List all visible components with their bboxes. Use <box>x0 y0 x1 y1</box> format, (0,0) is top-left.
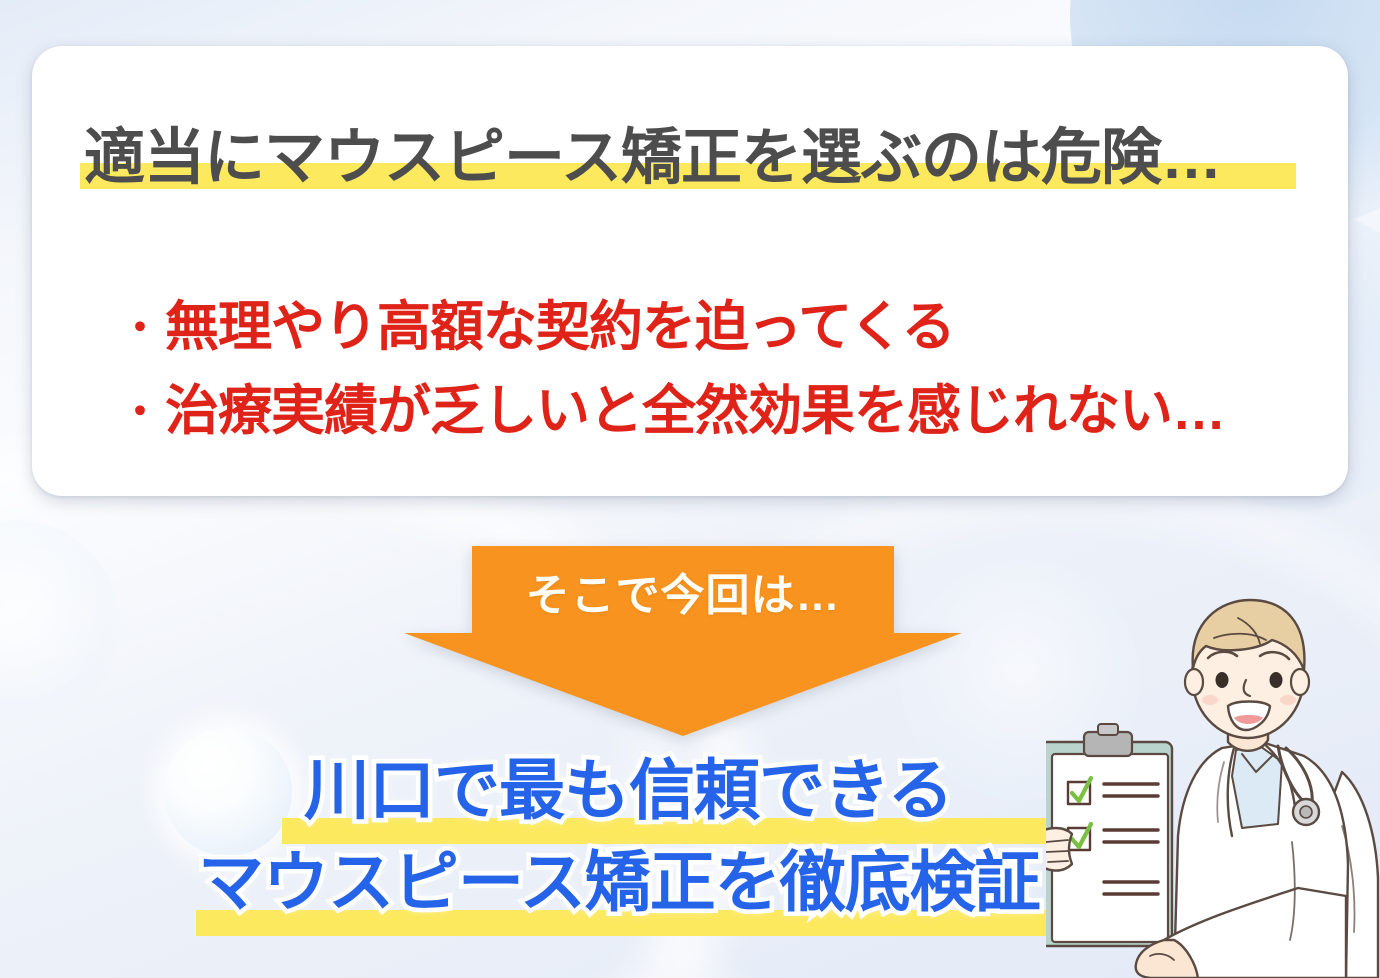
list-item: ・ 無理やり高額な契約を迫ってくる <box>120 294 1320 362</box>
list-item-label: 治療実績が乏しいと全然効果を感じれない… <box>165 378 1225 446</box>
bottom-headline-text-2: マウスピース矯正を徹底検証 <box>198 838 1040 927</box>
doctor-ear-right <box>1291 669 1309 695</box>
list-item: ・ 治療実績が乏しいと全然効果を感じれない… <box>120 378 1320 446</box>
arrow-label: そこで今回は… <box>404 546 962 636</box>
doctor-hand-left <box>1046 828 1072 871</box>
doctor-shirt <box>1232 746 1282 828</box>
doctor-eye-left <box>1216 672 1229 688</box>
doctor-blush-right <box>1280 695 1296 705</box>
bottom-headline-text-1: 川口で最も信頼できる <box>304 746 953 835</box>
doctor-blush-left <box>1202 695 1218 705</box>
bubble-decoration-left-mid <box>0 520 120 730</box>
bullet-marker-icon: ・ <box>120 308 159 348</box>
poster-canvas: 適当にマウスピース矯正を選ぶのは危険… ・ 無理やり高額な契約を迫ってくる ・ … <box>0 0 1380 978</box>
arrow-label-text: そこで今回は… <box>526 559 841 623</box>
card-heading: 適当にマウスピース矯正を選ぶのは危険… <box>84 124 1221 191</box>
stethoscope-diaphragm <box>1300 806 1312 818</box>
doctor-illustration <box>1046 596 1380 978</box>
card-heading-text: 適当にマウスピース矯正を選ぶのは危険… <box>84 123 1221 191</box>
list-item-label: 無理やり高額な契約を迫ってくる <box>165 294 955 362</box>
doctor-eye-right <box>1270 672 1283 688</box>
doctor-ear-left <box>1185 669 1203 695</box>
warning-card: 適当にマウスピース矯正を選ぶのは危険… ・ 無理やり高額な契約を迫ってくる ・ … <box>32 46 1348 496</box>
bullet-marker-icon: ・ <box>120 392 159 432</box>
warning-bullet-list: ・ 無理やり高額な契約を迫ってくる ・ 治療実績が乏しいと全然効果を感じれない… <box>120 294 1320 445</box>
clipboard-clip-top <box>1098 724 1118 735</box>
